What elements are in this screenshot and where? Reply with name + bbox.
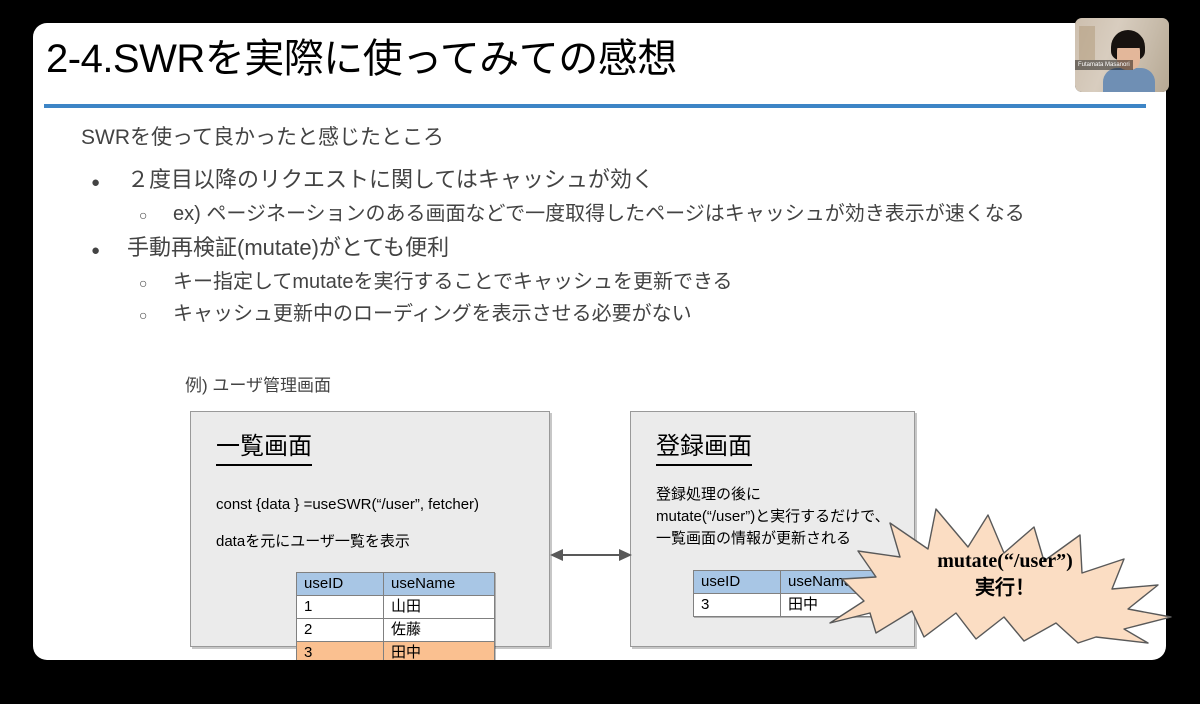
bullet-text: キー指定してmutateを実行することでキャッシュを更新できる (173, 267, 733, 298)
bullet-text: 手動再検証(mutate)がとても便利 (127, 231, 449, 264)
list-panel-title: 一覧画面 (216, 431, 312, 466)
bullet-text: ex) ページネーションのある画面などで一度取得したページはキャッシュが効き表示… (173, 199, 1025, 230)
bullet-item: ○ キャッシュ更新中のローディングを表示させる必要がない (81, 299, 1151, 331)
bullet-item: ○ キー指定してmutateを実行することでキャッシュを更新できる (81, 267, 1151, 299)
register-panel-title: 登録画面 (656, 431, 752, 466)
cell-useid: 3 (297, 642, 384, 661)
list-screen-panel: 一覧画面 const {data } =useSWR(“/user”, fetc… (190, 411, 550, 647)
webcam-background-object (1079, 26, 1095, 60)
screen: 2-4.SWRを実際に使ってみての感想 SWRを使って良かったと感じたところ ●… (0, 0, 1200, 704)
table-row: 2 佐藤 (297, 619, 495, 642)
bullet-marker-icon: ○ (139, 268, 173, 299)
bullet-text: ２度目以降のリクエストに関してはキャッシュが効く (127, 163, 654, 196)
list-panel-code: const {data } =useSWR(“/user”, fetcher) (216, 494, 479, 516)
list-panel-note: dataを元にユーザ一覧を表示 (216, 531, 410, 553)
cell-username: 田中 (384, 642, 495, 661)
table-row: 1 山田 (297, 596, 495, 619)
column-header-useid: useID (694, 571, 781, 594)
webcam-person-torso (1103, 68, 1155, 92)
webcam-person-fringe (1113, 35, 1144, 48)
diagram-caption: 例) ユーザ管理画面 (185, 374, 331, 398)
bullet-item: ● ２度目以降のリクエストに関してはキャッシュが効く (81, 163, 1151, 199)
bullet-marker-icon: ○ (139, 300, 173, 331)
bullet-item: ● 手動再検証(mutate)がとても便利 (81, 231, 1151, 267)
cell-username: 山田 (384, 596, 495, 619)
cell-username: 佐藤 (384, 619, 495, 642)
column-header-useid: useID (297, 573, 384, 596)
bidirectional-arrow-icon (550, 543, 632, 567)
table-row-highlighted: 3 田中 (297, 642, 495, 661)
bullet-item: ○ ex) ページネーションのある画面などで一度取得したページはキャッシュが効き… (81, 199, 1151, 231)
column-header-username: useName (384, 573, 495, 596)
cell-useid: 2 (297, 619, 384, 642)
cell-useid: 3 (694, 594, 781, 617)
bullet-text: キャッシュ更新中のローディングを表示させる必要がない (173, 299, 692, 330)
bullet-marker-icon: ● (91, 166, 127, 199)
title-underline-rule (44, 104, 1146, 108)
bullet-marker-icon: ● (91, 234, 127, 267)
webcam-participant-name: Futamata Masanori (1075, 60, 1133, 70)
table-header-row: useID useName (297, 573, 495, 596)
cell-useid: 1 (297, 596, 384, 619)
user-table: useID useName 1 山田 2 佐藤 3 田中 (296, 572, 495, 660)
bullet-list: ● ２度目以降のリクエストに関してはキャッシュが効く ○ ex) ページネーショ… (81, 163, 1151, 331)
page-title: 2-4.SWRを実際に使ってみての感想 (46, 31, 677, 87)
slide-subtitle: SWRを使って良かったと感じたところ (81, 123, 444, 153)
callout-text: mutate(“/user”) 実行！ (880, 548, 1130, 602)
webcam-overlay[interactable]: Futamata Masanori (1075, 18, 1169, 92)
bullet-marker-icon: ○ (139, 200, 173, 231)
